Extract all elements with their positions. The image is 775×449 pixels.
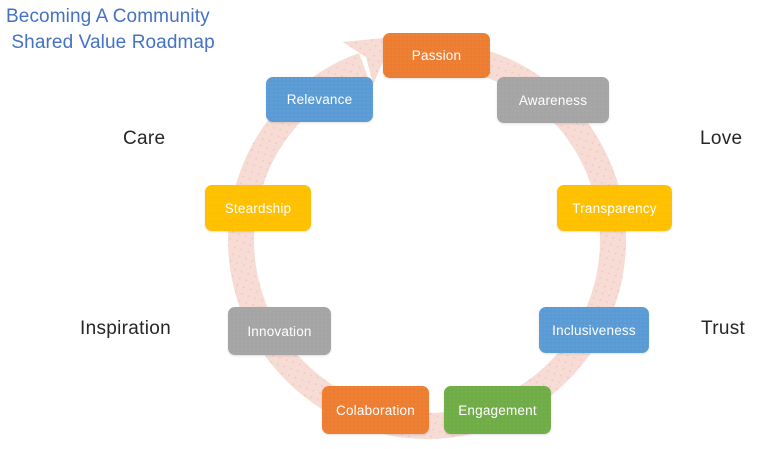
cycle-node-label: Passion <box>412 48 461 63</box>
cycle-node-innovation[interactable]: Innovation <box>228 307 331 355</box>
cycle-node-awareness[interactable]: Awareness <box>497 77 609 123</box>
cycle-node-relevance[interactable]: Relevance <box>266 77 373 122</box>
corner-label-love: Love <box>700 128 742 150</box>
corner-label-trust: Trust <box>701 318 745 340</box>
cycle-node-steardship[interactable]: Steardship <box>205 185 311 231</box>
cycle-node-inclusiveness[interactable]: Inclusiveness <box>539 307 649 353</box>
cycle-node-label: Awareness <box>519 93 587 108</box>
cycle-node-label: Innovation <box>247 324 311 339</box>
cycle-node-passion[interactable]: Passion <box>383 33 490 78</box>
cycle-node-label: Inclusiveness <box>552 323 636 338</box>
cycle-node-colaboration[interactable]: Colaboration <box>322 386 429 434</box>
cycle-node-label: Steardship <box>225 201 292 216</box>
corner-label-care: Care <box>123 128 165 150</box>
cycle-node-engagement[interactable]: Engagement <box>444 386 551 434</box>
cycle-node-label: Relevance <box>287 92 353 107</box>
cycle-node-label: Transparency <box>572 201 656 216</box>
corner-label-inspiration: Inspiration <box>80 318 171 340</box>
cycle-node-label: Colaboration <box>336 403 415 418</box>
cycle-node-transparency[interactable]: Transparency <box>557 185 672 231</box>
cycle-node-label: Engagement <box>458 403 537 418</box>
slide-canvas: Becoming A Community Shared Value Roadma… <box>0 0 775 449</box>
